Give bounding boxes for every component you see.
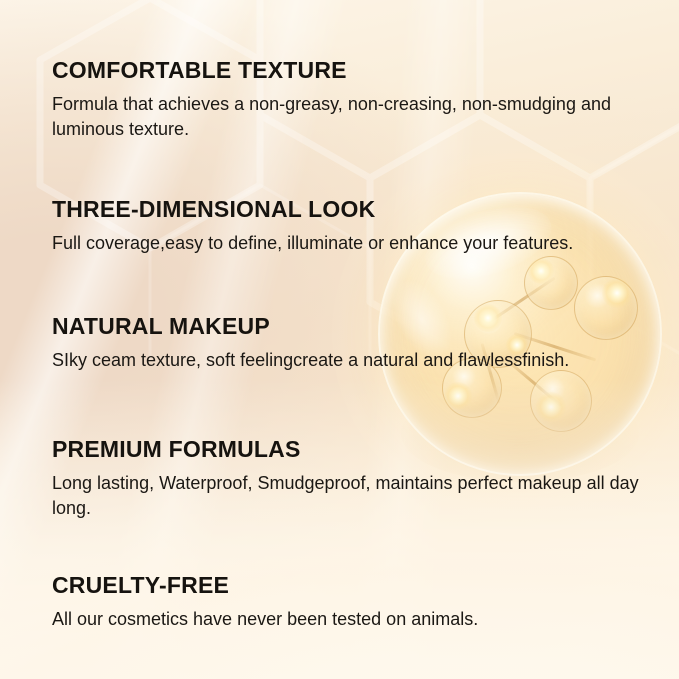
feature-block-natural-makeup: NATURAL MAKEUP SIky ceam texture, soft f… — [52, 313, 652, 373]
feature-title: CRUELTY-FREE — [52, 572, 652, 599]
feature-description: SIky ceam texture, soft feelingcreate a … — [52, 348, 652, 373]
feature-block-premium-formulas: PREMIUM FORMULAS Long lasting, Waterproo… — [52, 436, 652, 521]
feature-title: NATURAL MAKEUP — [52, 313, 652, 340]
feature-block-comfortable-texture: COMFORTABLE TEXTURE Formula that achieve… — [52, 57, 652, 142]
feature-description: Formula that achieves a non-greasy, non-… — [52, 92, 652, 142]
product-benefits-graphic: COMFORTABLE TEXTURE Formula that achieve… — [0, 0, 679, 679]
feature-title: THREE-DIMENSIONAL LOOK — [52, 196, 652, 223]
feature-title: COMFORTABLE TEXTURE — [52, 57, 652, 84]
cream-swirl-foreground — [0, 379, 679, 679]
feature-description: All our cosmetics have never been tested… — [52, 607, 652, 632]
feature-description: Full coverage,easy to define, illuminate… — [52, 231, 652, 256]
feature-block-cruelty-free: CRUELTY-FREE All our cosmetics have neve… — [52, 572, 652, 632]
feature-title: PREMIUM FORMULAS — [52, 436, 652, 463]
feature-block-three-dimensional-look: THREE-DIMENSIONAL LOOK Full coverage,eas… — [52, 196, 652, 256]
feature-description: Long lasting, Waterproof, Smudgeproof, m… — [52, 471, 652, 521]
